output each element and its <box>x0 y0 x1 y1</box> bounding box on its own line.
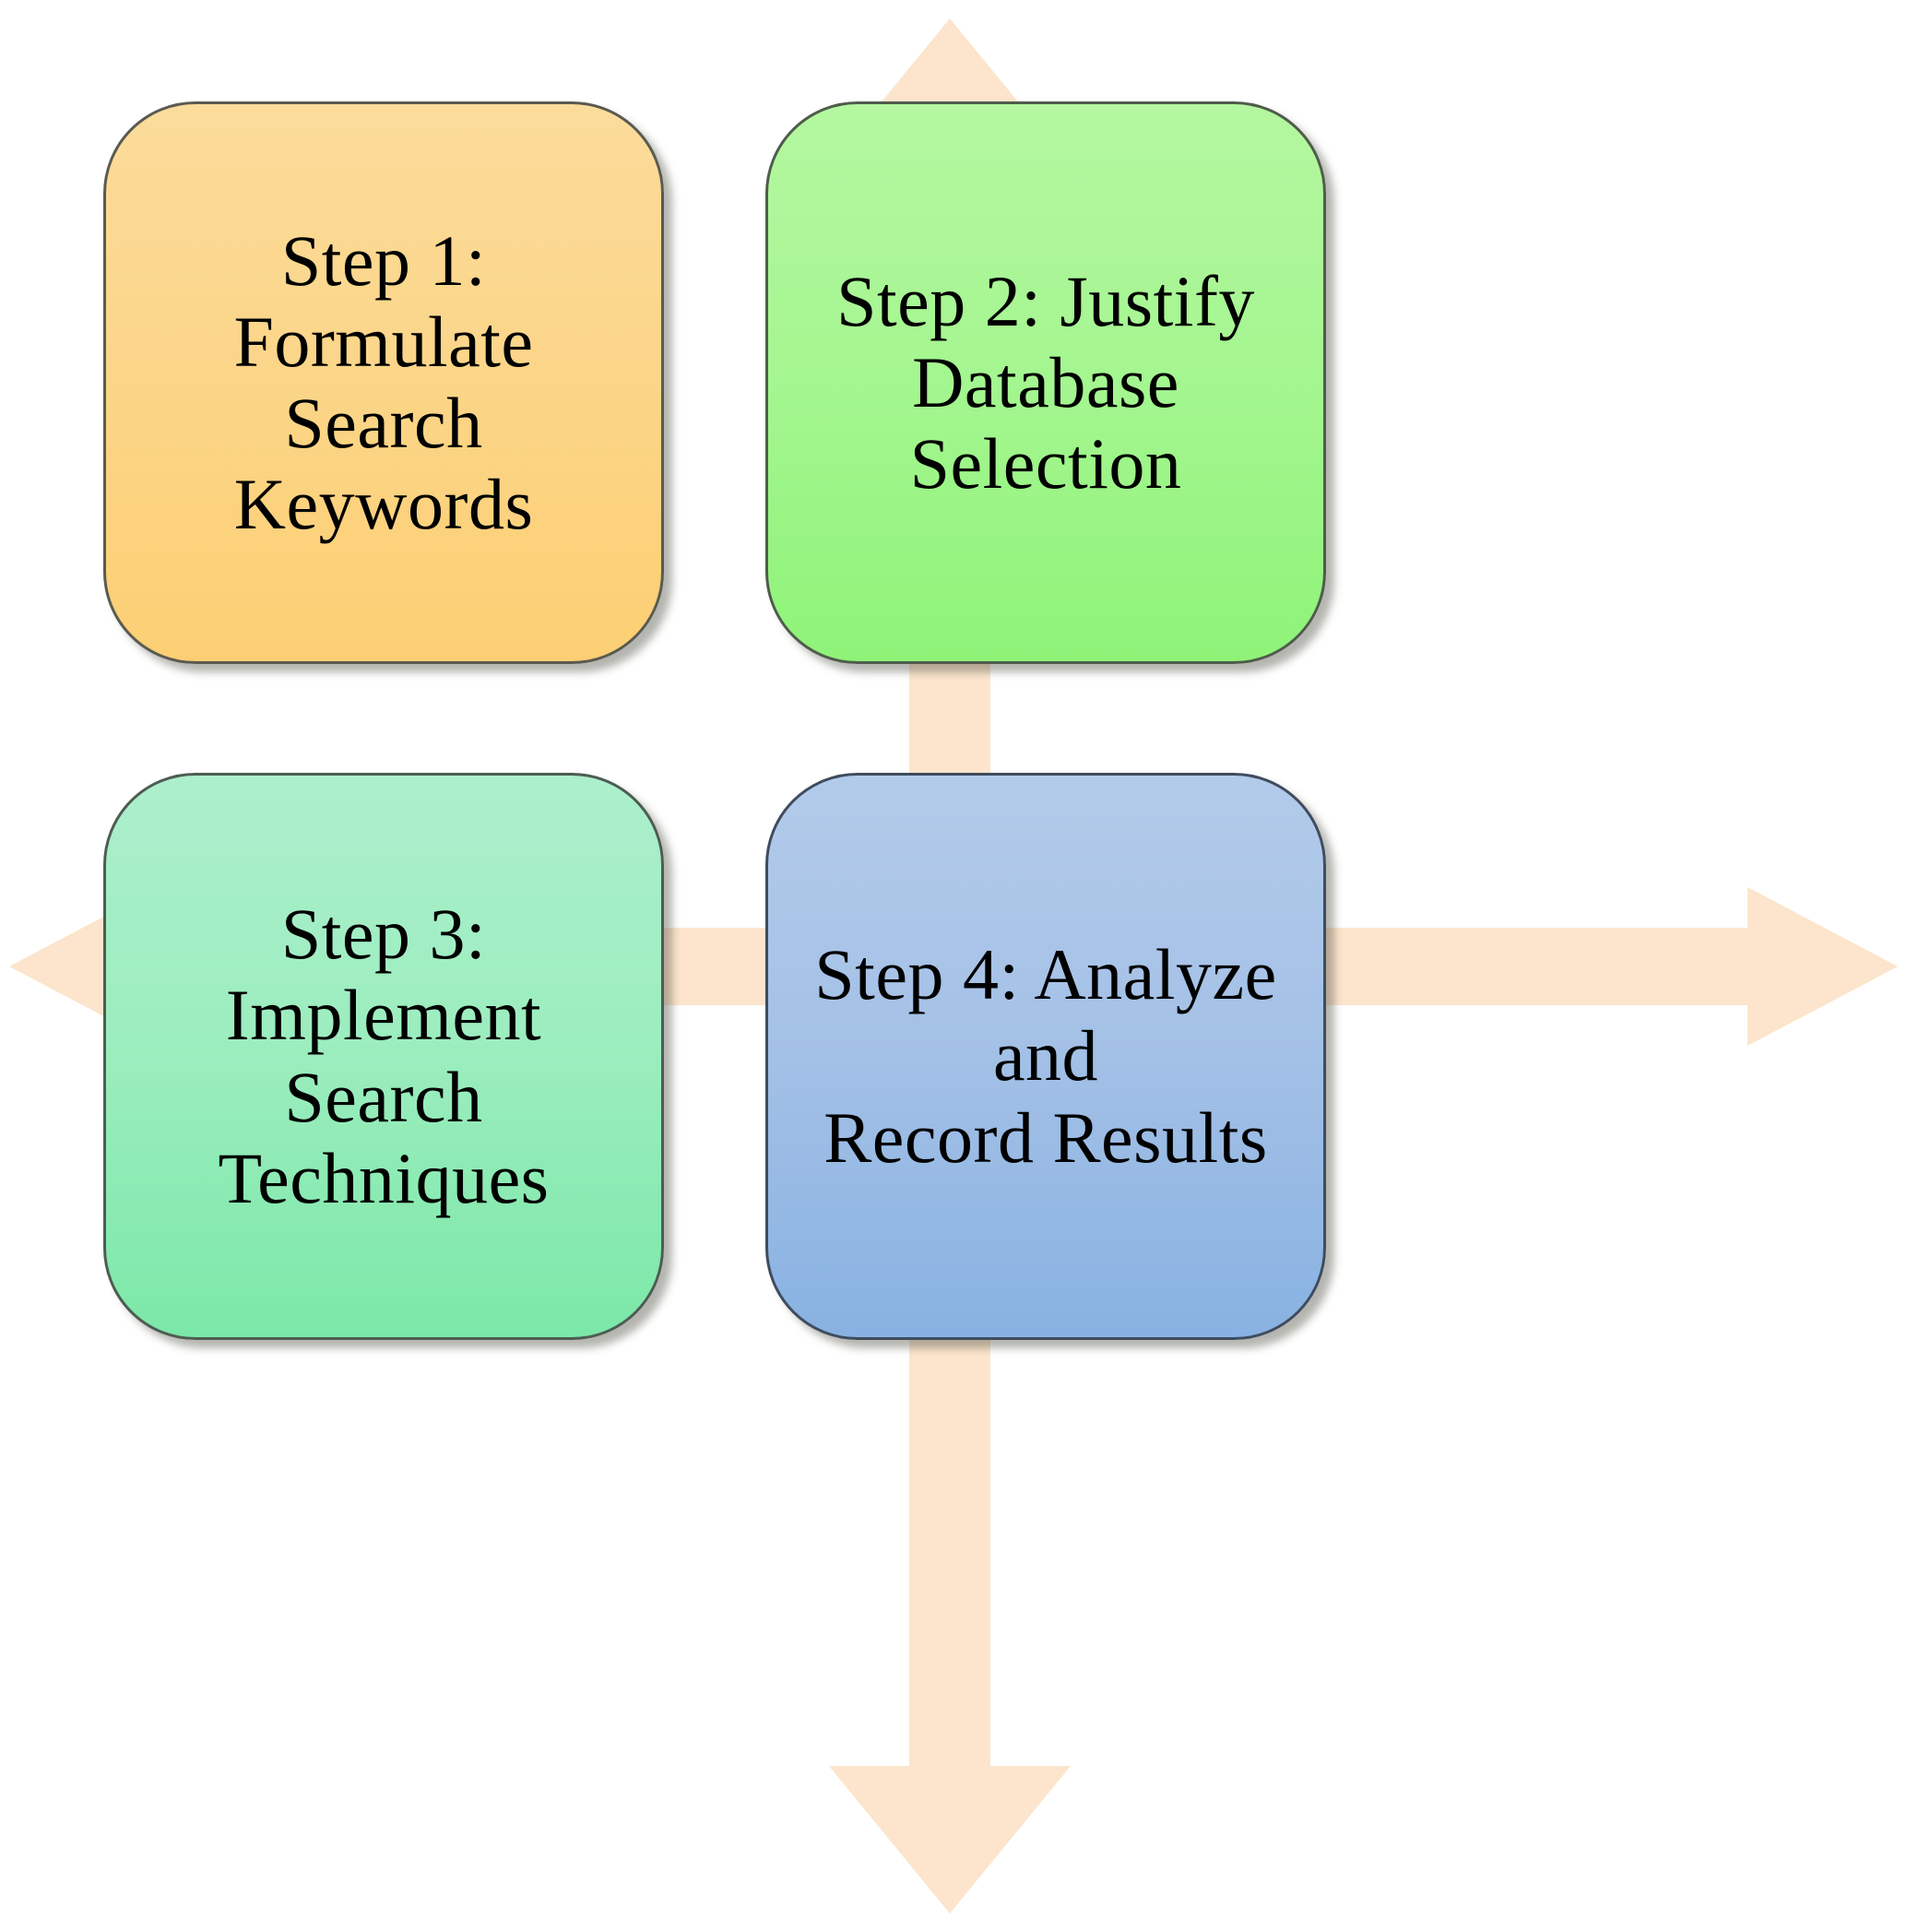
quadrant-box-step-3[interactable]: Step 3: Implement Search Techniques <box>103 773 664 1340</box>
diagram-canvas: Step 1: Formulate Search Keywords Step 2… <box>0 0 1907 1932</box>
quadrant-label-step-4: Step 4: Analyze and Record Results <box>768 934 1323 1178</box>
quadrant-box-step-1[interactable]: Step 1: Formulate Search Keywords <box>103 101 664 664</box>
quadrant-box-step-4[interactable]: Step 4: Analyze and Record Results <box>765 773 1326 1340</box>
quadrant-label-step-2: Step 2: Justify Database Selection <box>768 261 1323 504</box>
quadrant-label-step-1: Step 1: Formulate Search Keywords <box>106 220 661 546</box>
quadrant-box-step-2[interactable]: Step 2: Justify Database Selection <box>765 101 1326 664</box>
quadrant-label-step-3: Step 3: Implement Search Techniques <box>106 894 661 1219</box>
